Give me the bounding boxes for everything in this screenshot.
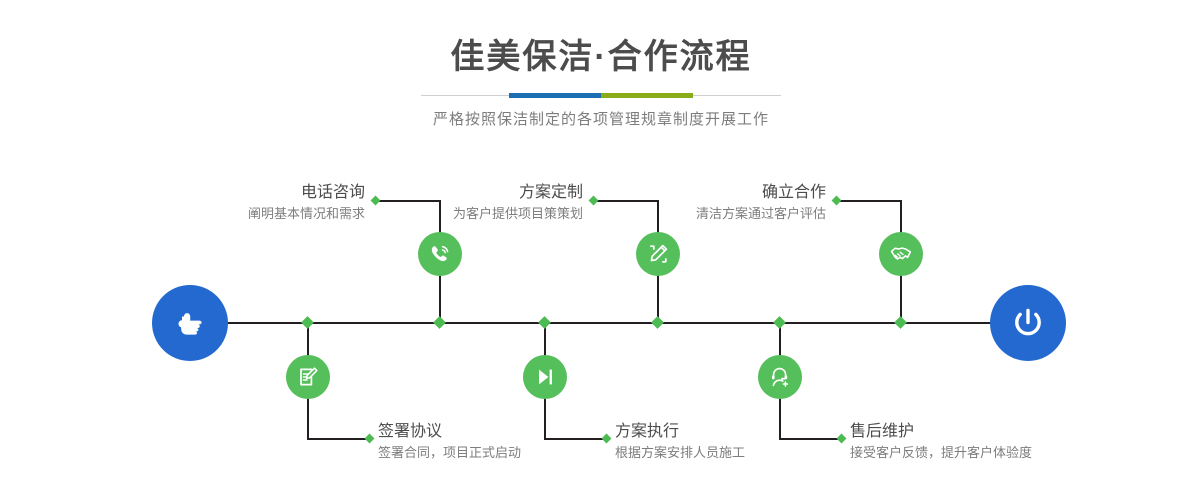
step-label-plan-customize: 方案定制 为客户提供项目策策划 bbox=[320, 183, 583, 223]
axis-diamond-top-3 bbox=[894, 316, 907, 329]
label-diamond-bottom-1 bbox=[365, 434, 375, 444]
step-desc: 接受客户反馈，提升客户体验度 bbox=[850, 444, 1180, 462]
process-flow-page: 佳美保洁·合作流程 严格按照保洁制定的各项管理规章制度开展工作 bbox=[0, 0, 1202, 502]
step-icon-plan-customize[interactable] bbox=[636, 232, 680, 276]
page-subtitle: 严格按照保洁制定的各项管理规章制度开展工作 bbox=[0, 110, 1202, 130]
pencil-design-icon bbox=[645, 241, 671, 267]
step-desc: 清洁方案通过客户评估 bbox=[560, 205, 826, 223]
axis-diamond-bottom-2 bbox=[538, 316, 551, 329]
flow-diagram: 电话咨询 阐明基本情况和需求 方案定制 为客户提供项目策策划 bbox=[0, 150, 1202, 502]
label-diamond-top-3 bbox=[832, 196, 842, 206]
step-title: 售后维护 bbox=[850, 422, 1180, 442]
step-label-confirm-cooperation: 确立合作 清洁方案通过客户评估 bbox=[560, 183, 826, 223]
end-endpoint bbox=[990, 285, 1066, 361]
step-icon-confirm-cooperation[interactable] bbox=[879, 232, 923, 276]
handshake-icon bbox=[888, 241, 914, 267]
step-title: 方案定制 bbox=[320, 183, 583, 203]
step-title: 确立合作 bbox=[560, 183, 826, 203]
play-execute-icon bbox=[532, 364, 558, 390]
step-desc: 为客户提供项目策策划 bbox=[320, 205, 583, 223]
phone-call-icon bbox=[427, 241, 453, 267]
page-header: 佳美保洁·合作流程 严格按照保洁制定的各项管理规章制度开展工作 bbox=[0, 0, 1202, 130]
step-icon-plan-execute[interactable] bbox=[523, 355, 567, 399]
step-icon-after-sales[interactable] bbox=[758, 355, 802, 399]
power-button-icon bbox=[1007, 302, 1049, 344]
customer-support-icon bbox=[767, 364, 793, 390]
axis-diamond-top-1 bbox=[433, 316, 446, 329]
step-icon-sign-agreement[interactable] bbox=[286, 355, 330, 399]
title-divider bbox=[421, 92, 781, 100]
axis-diamond-bottom-1 bbox=[301, 316, 314, 329]
pointing-hand-icon bbox=[170, 303, 210, 343]
axis-diamond-top-2 bbox=[651, 316, 664, 329]
axis-diamond-bottom-3 bbox=[773, 316, 786, 329]
divider-segment-green bbox=[601, 93, 693, 98]
connector-horizontal-top-3 bbox=[836, 200, 902, 202]
connector-horizontal-bottom-1 bbox=[307, 438, 369, 440]
page-title: 佳美保洁·合作流程 bbox=[0, 0, 1202, 78]
step-label-after-sales: 售后维护 接受客户反馈，提升客户体验度 bbox=[850, 422, 1180, 462]
document-sign-icon bbox=[295, 364, 321, 390]
divider-segment-blue bbox=[509, 93, 601, 98]
step-icon-phone-consult[interactable] bbox=[418, 232, 462, 276]
start-endpoint bbox=[152, 285, 228, 361]
